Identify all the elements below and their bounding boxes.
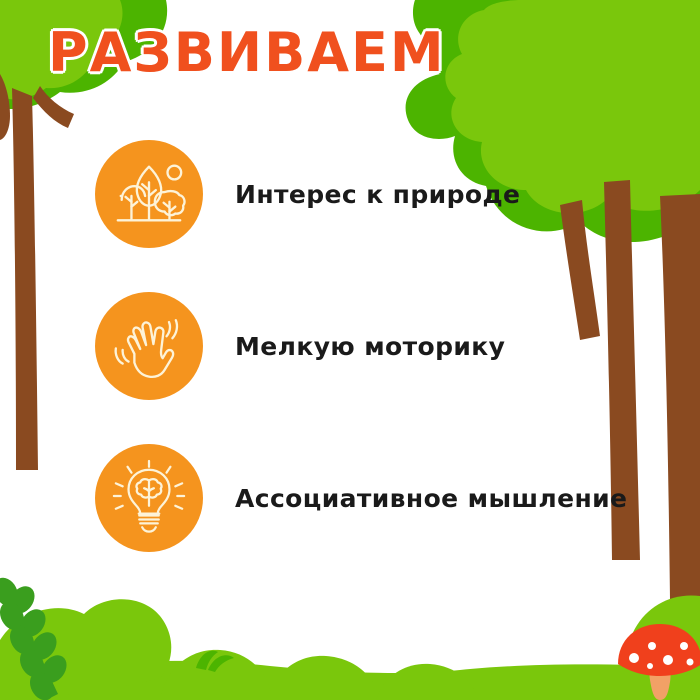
open-hand-icon xyxy=(110,307,188,385)
poster-canvas: РАЗВИВАЕМ xyxy=(0,0,700,700)
page-title-text: РАЗВИВАЕМ xyxy=(48,21,446,84)
lightbulb-brain-icon xyxy=(110,459,188,537)
feature-item-thinking[interactable]: Ассоциативное мышление xyxy=(95,444,627,552)
forest-trees-icon xyxy=(110,155,188,233)
feature-badge-nature xyxy=(95,140,203,248)
feature-label-nature: Интерес к природе xyxy=(235,180,520,209)
feature-item-nature[interactable]: Интерес к природе xyxy=(95,140,520,248)
feature-label-motor: Мелкую моторику xyxy=(235,332,505,361)
feature-item-motor[interactable]: Мелкую моторику xyxy=(95,292,505,400)
page-title: РАЗВИВАЕМ xyxy=(48,26,468,80)
bottom-grass-bushes xyxy=(0,595,700,700)
feature-label-thinking: Ассоциативное мышление xyxy=(235,484,627,513)
feature-badge-thinking xyxy=(95,444,203,552)
left-tree-trunk xyxy=(0,74,74,470)
feature-badge-motor xyxy=(95,292,203,400)
